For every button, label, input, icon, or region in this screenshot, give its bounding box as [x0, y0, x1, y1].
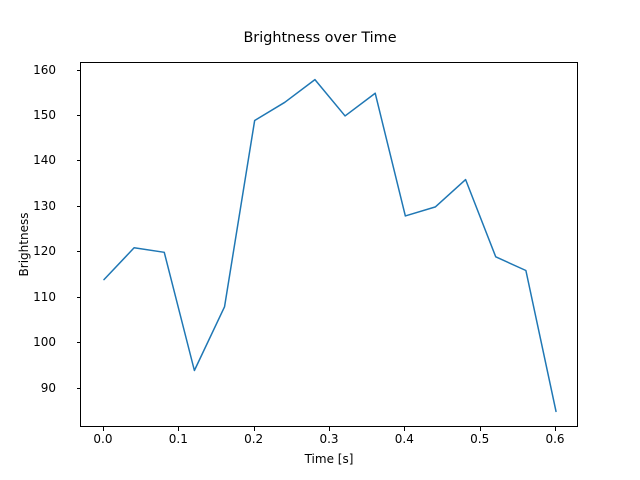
brightness-line-series [104, 80, 556, 412]
y-tick-label: 160 [0, 63, 56, 77]
x-tick-label: 0.5 [450, 432, 510, 446]
plot-axes-frame [80, 62, 578, 427]
y-tick-label: 120 [0, 244, 56, 258]
y-tick-label: 150 [0, 108, 56, 122]
x-axis-label: Time [s] [80, 452, 578, 466]
x-tick-label: 0.3 [299, 432, 359, 446]
y-tick-label: 140 [0, 153, 56, 167]
x-tick-label: 0.0 [73, 432, 133, 446]
y-tick-label: 90 [0, 381, 56, 395]
x-tick-label: 0.1 [148, 432, 208, 446]
x-tick-label: 0.4 [374, 432, 434, 446]
y-tick-label: 110 [0, 290, 56, 304]
y-tick-label: 100 [0, 335, 56, 349]
y-tick-label: 130 [0, 199, 56, 213]
x-tick-label: 0.2 [224, 432, 284, 446]
line-series-plot [81, 63, 579, 428]
x-tick-label: 0.6 [525, 432, 585, 446]
chart-title: Brightness over Time [0, 30, 640, 46]
figure-canvas: Brightness over Time Brightness Time [s]… [0, 0, 640, 480]
